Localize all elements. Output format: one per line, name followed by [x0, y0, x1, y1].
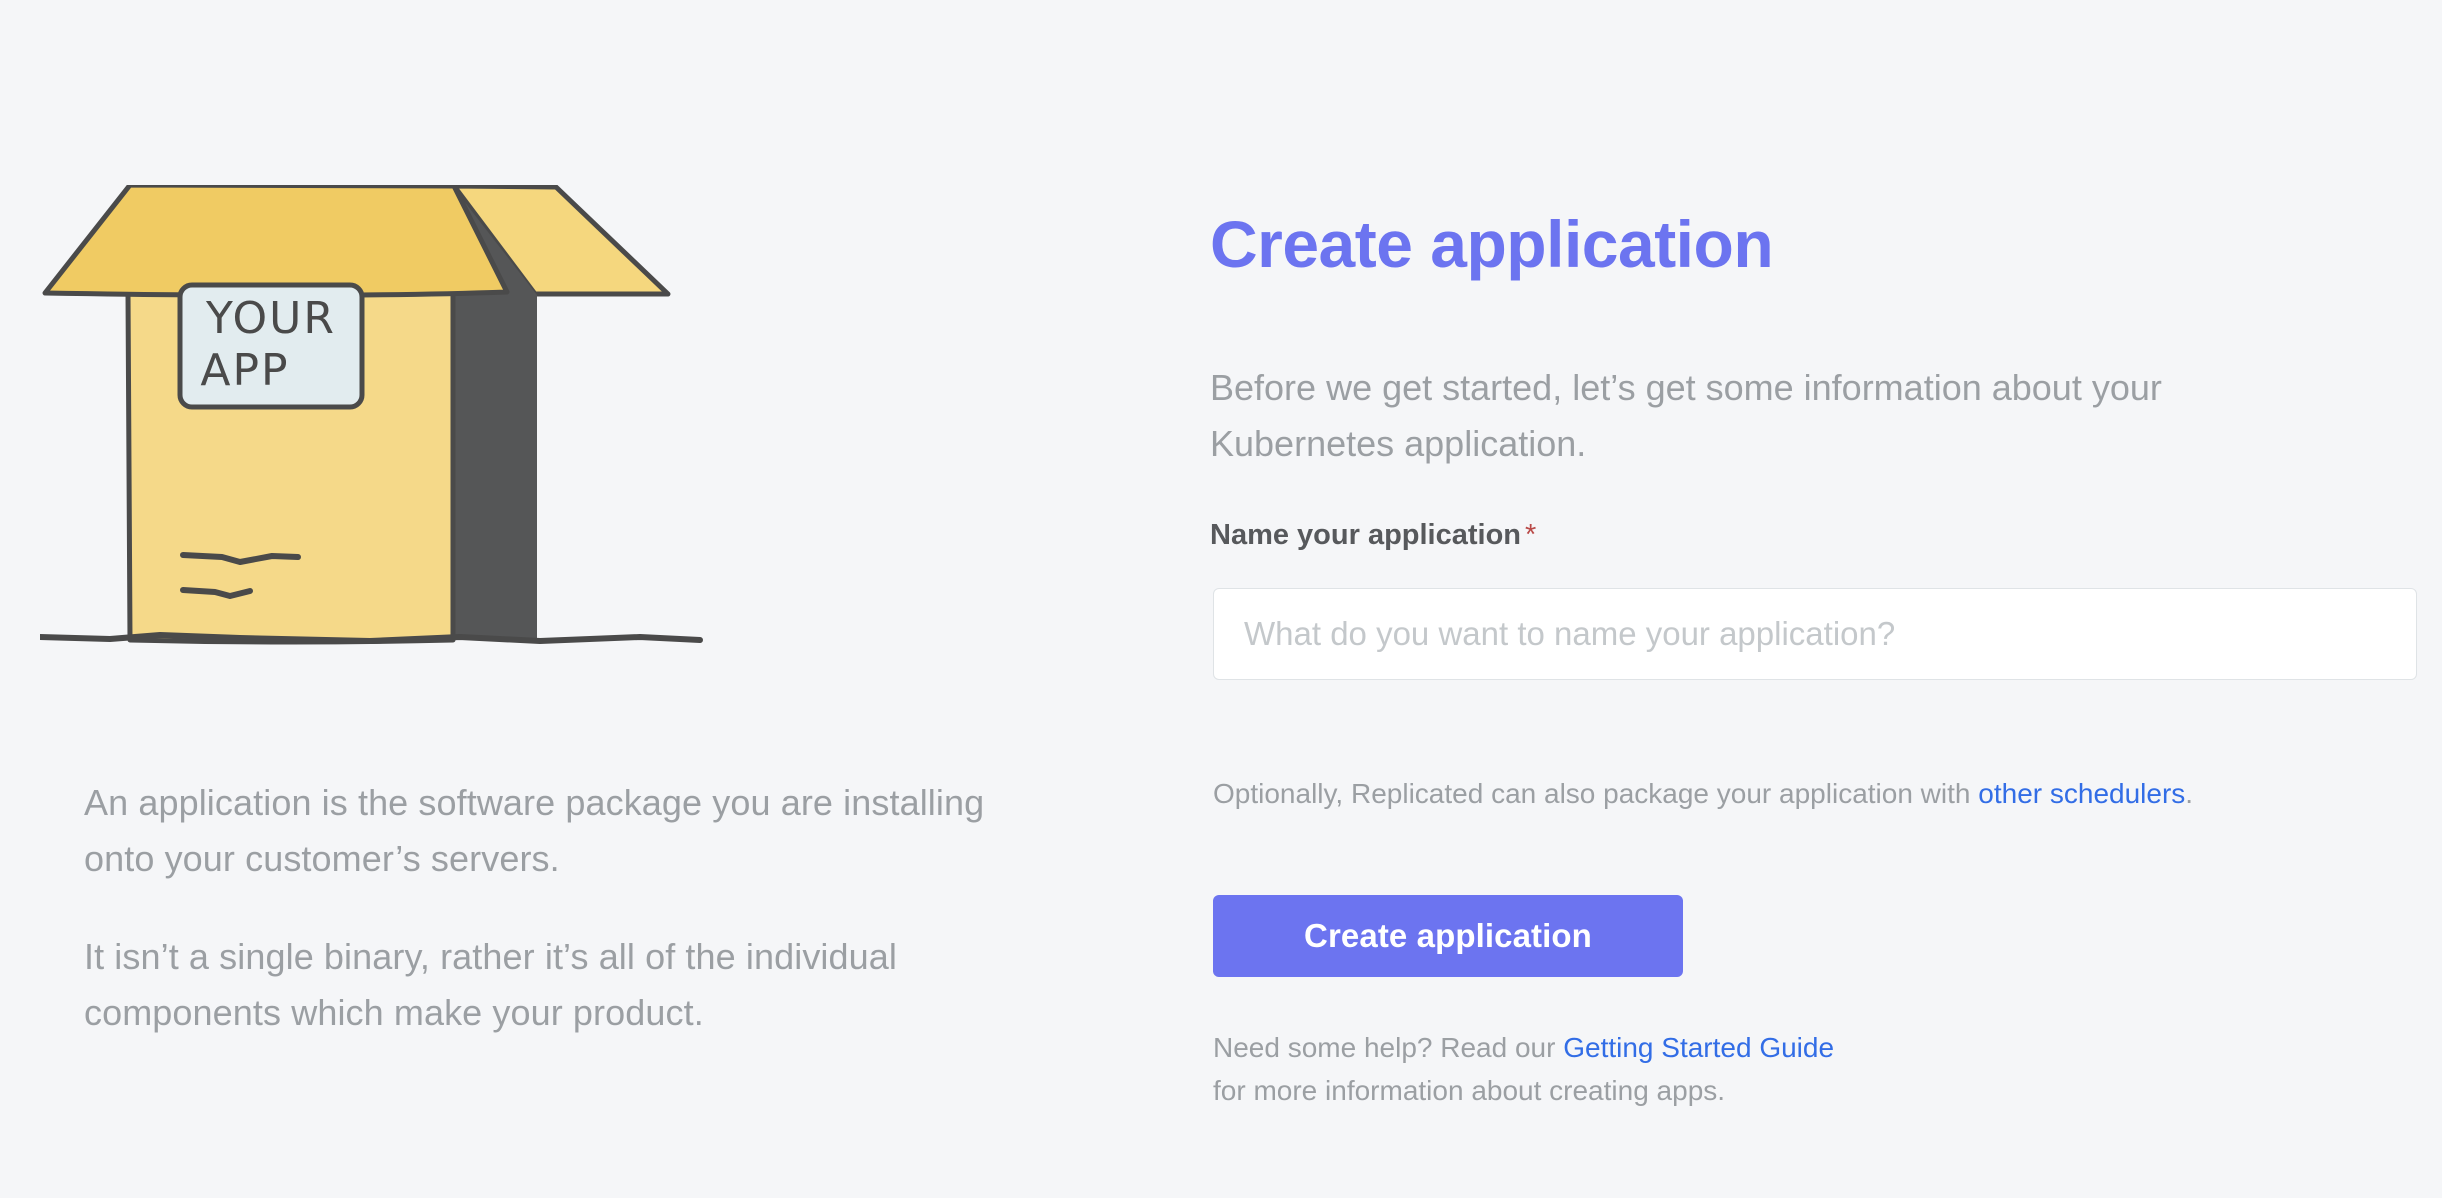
left-paragraph-1: An application is the software package y… — [84, 775, 1044, 887]
box-flap-left — [45, 185, 507, 295]
help-line-1: Need some help? Read our Getting Started… — [1213, 1026, 1834, 1069]
create-application-page: YOUR APP An application is the software … — [0, 0, 2442, 1198]
box-illustration-svg: YOUR APP — [40, 185, 1040, 730]
optional-note-prefix: Optionally, Replicated can also package … — [1213, 778, 1978, 809]
name-field-label: Name your application* — [1210, 518, 1536, 552]
box-label-line1: YOUR — [205, 293, 336, 344]
optional-schedulers-note: Optionally, Replicated can also package … — [1213, 776, 2193, 812]
required-asterisk: * — [1525, 519, 1536, 551]
left-description-text: An application is the software package y… — [84, 775, 1044, 1041]
application-name-input[interactable] — [1213, 588, 2417, 680]
help-line-2: for more information about creating apps… — [1213, 1069, 1834, 1112]
box-label-line2: APP — [200, 345, 289, 396]
help-prefix: Need some help? Read our — [1213, 1032, 1563, 1063]
create-application-form-column: Create application Before we get started… — [1210, 0, 2442, 1198]
help-text-block: Need some help? Read our Getting Started… — [1213, 1026, 1834, 1112]
name-field-label-text: Name your application — [1210, 519, 1521, 551]
your-app-box-illustration: YOUR APP — [40, 185, 1040, 730]
left-info-column: YOUR APP An application is the software … — [0, 0, 1150, 1198]
create-application-button[interactable]: Create application — [1213, 895, 1683, 977]
page-title: Create application — [1210, 208, 1773, 280]
left-paragraph-2: It isn’t a single binary, rather it’s al… — [84, 929, 1044, 1041]
optional-note-suffix: . — [2185, 778, 2193, 809]
getting-started-guide-link[interactable]: Getting Started Guide — [1563, 1032, 1834, 1063]
other-schedulers-link[interactable]: other schedulers — [1978, 778, 2185, 809]
page-subtitle: Before we get started, let’s get some in… — [1210, 360, 2340, 472]
